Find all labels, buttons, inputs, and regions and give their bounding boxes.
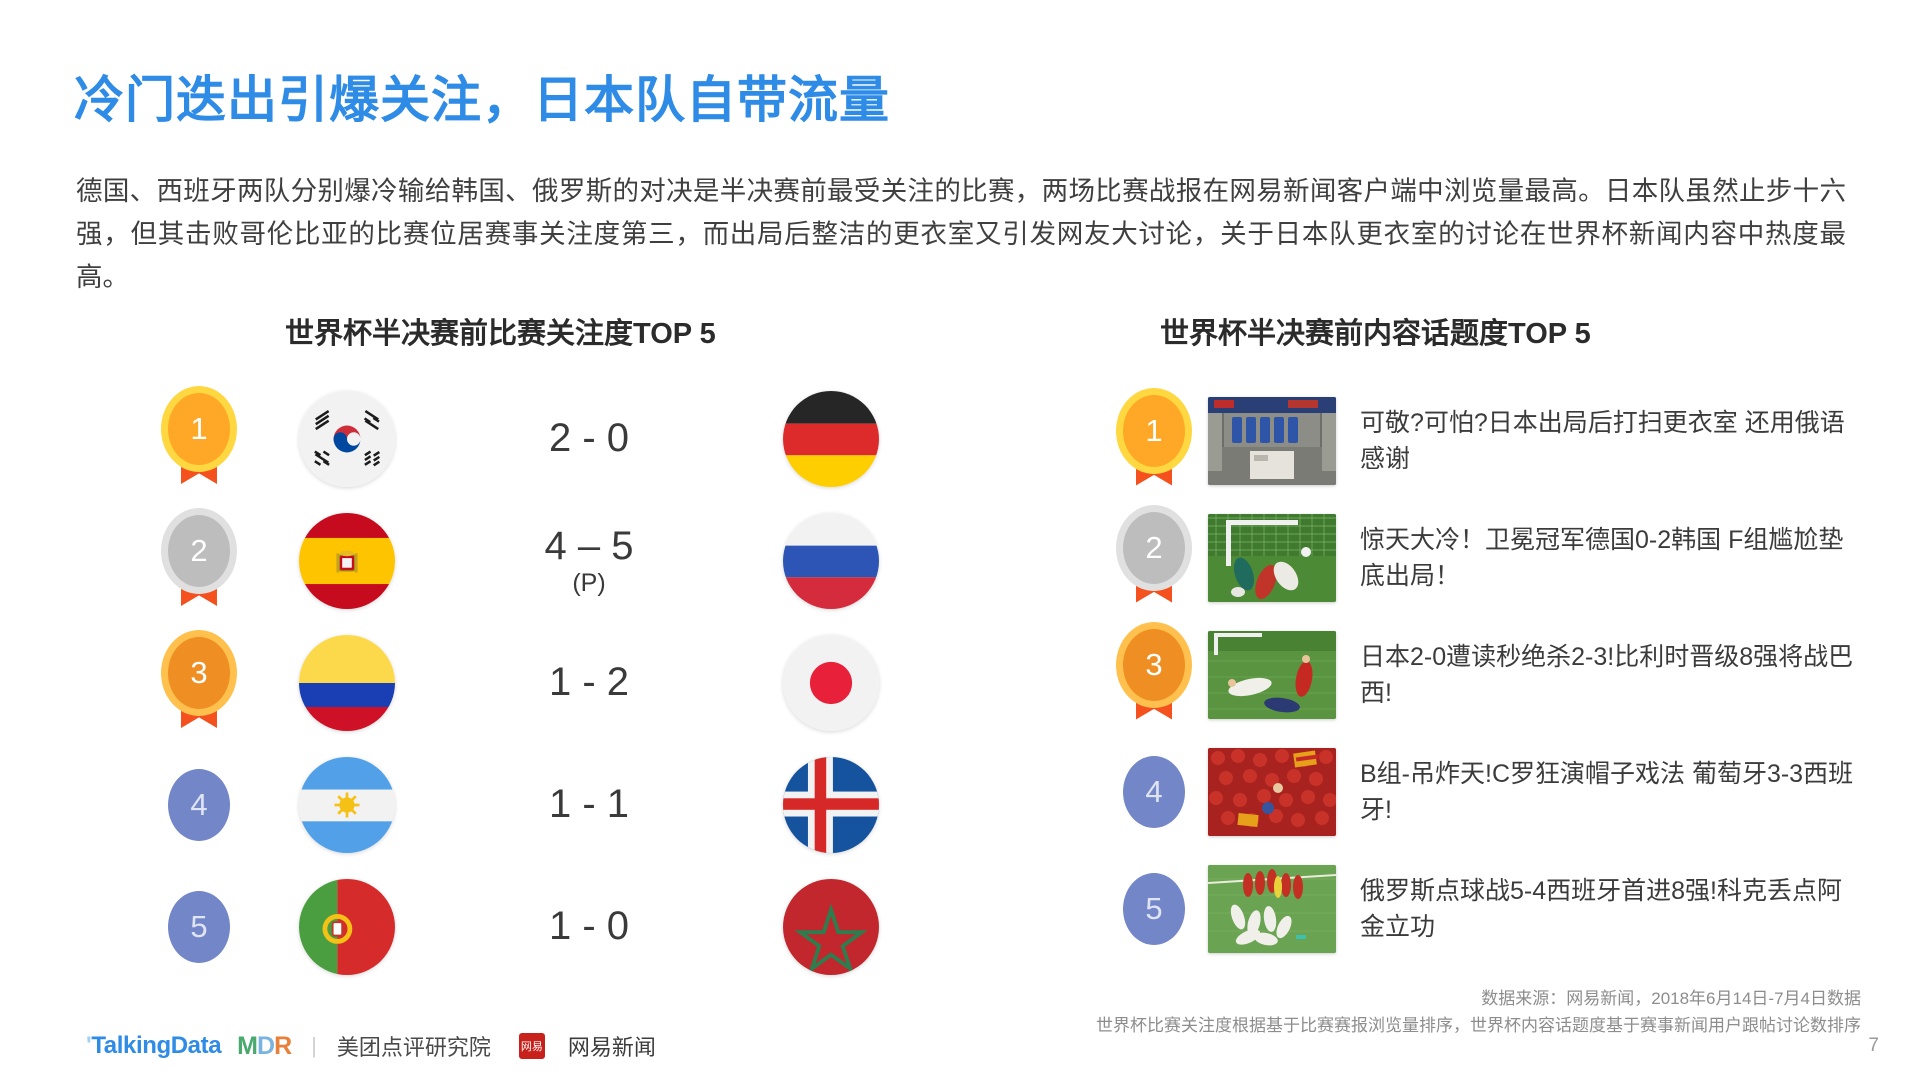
section-heading-matches: 世界杯半决赛前比赛关注度TOP 5 — [285, 310, 716, 352]
rank-cell: 4 — [1100, 756, 1208, 828]
thumbnail-players-on-pitch[interactable] — [1208, 631, 1336, 719]
mdr-logo-r: R — [274, 1032, 291, 1060]
score-cell: 4 – 5 (P) — [436, 525, 742, 597]
thumbnail-celebration[interactable] — [1208, 865, 1336, 953]
flag-cell-right — [742, 635, 920, 731]
mdr-logo-m: M — [237, 1032, 257, 1060]
score-value: 2 - 0 — [549, 416, 629, 460]
rank-badge: 4 — [1123, 756, 1185, 828]
list-item: 2 惊天大冷！卫冕冠军德国0-2韩国 F组尴尬垫底出局！ — [1100, 499, 1900, 616]
list-item: 3 日本2-0遭读秒绝杀2-3!比利时晋级8强将战巴西! — [1100, 616, 1900, 733]
rank-cell: 1 — [1100, 395, 1208, 487]
score-value: 1 - 2 — [549, 660, 629, 704]
table-row: 3 1 - 2 — [140, 622, 920, 744]
page-title: 冷门迭出引爆关注，日本队自带流量 — [74, 60, 890, 132]
footnote-method: 世界杯比赛关注度根据基于比赛赛报浏览量排序，世界杯内容话题度基于赛事新闻用户跟帖… — [1096, 1012, 1861, 1039]
score-cell: 2 - 0 — [436, 417, 742, 460]
list-item: 4 — [1100, 733, 1900, 850]
news-title[interactable]: 惊天大冷！卫冕冠军德国0-2韩国 F组尴尬垫底出局！ — [1360, 522, 1860, 594]
flag-cell-left — [258, 513, 436, 609]
rank-number: 1 — [168, 393, 230, 465]
netease-news-logo: 网易新闻 — [568, 1030, 656, 1062]
thumbnail-goal-mouth[interactable] — [1208, 514, 1336, 602]
list-item: 5 — [1100, 850, 1900, 967]
flag-cell-right — [742, 391, 920, 487]
page-number: 7 — [1868, 1035, 1879, 1057]
mdr-logo: MDR — [237, 1032, 291, 1061]
flag-cell-left — [258, 635, 436, 731]
score-value: 1 - 1 — [549, 782, 629, 826]
news-title[interactable]: 俄罗斯点球战5-4西班牙首进8强!科克丢点阿金立功 — [1360, 873, 1860, 945]
flag-germany-icon — [783, 391, 879, 487]
score-cell: 1 - 2 — [436, 661, 742, 704]
footnote-source: 数据来源：网易新闻，2018年6月14日-7月4日数据 — [1096, 985, 1861, 1012]
flag-portugal-icon — [299, 879, 395, 975]
score-cell: 1 - 0 — [436, 905, 742, 948]
news-title[interactable]: B组-吊炸天!C罗狂演帽子戏法 葡萄牙3-3西班牙! — [1360, 756, 1860, 828]
table-row: 4 — [140, 744, 920, 866]
news-title[interactable]: 日本2-0遭读秒绝杀2-3!比利时晋级8强将战巴西! — [1360, 639, 1860, 711]
rank-cell: 2 — [140, 515, 258, 607]
rank-cell: 5 — [1100, 873, 1208, 945]
rank-cell: 1 — [140, 393, 258, 485]
rank-number: 1 — [1123, 395, 1185, 467]
rank-cell: 2 — [1100, 512, 1208, 604]
rank-badge: 5 — [1123, 873, 1185, 945]
flag-south-korea-icon — [299, 391, 395, 487]
medal-gold-icon: 1 — [168, 393, 230, 485]
news-topic-list: 1 — [1100, 382, 1900, 967]
flag-iceland-icon — [783, 757, 879, 853]
flag-cell-left — [258, 879, 436, 975]
flag-cell-left — [258, 757, 436, 853]
flag-spain-icon — [299, 513, 395, 609]
flag-cell-right — [742, 513, 920, 609]
intro-paragraph: 德国、西班牙两队分别爆冷输给韩国、俄罗斯的对决是半决赛前最受关注的比赛，两场比赛… — [76, 170, 1846, 299]
news-title[interactable]: 可敬?可怕?日本出局后打扫更衣室 还用俄语感谢 — [1360, 405, 1860, 477]
rank-cell: 4 — [140, 769, 258, 841]
medal-bronze-icon: 3 — [1123, 629, 1185, 721]
score-cell: 1 - 1 — [436, 783, 742, 826]
medal-silver-icon: 2 — [168, 515, 230, 607]
rank-number: 3 — [168, 637, 230, 709]
flag-argentina-icon — [299, 757, 395, 853]
rank-cell: 3 — [140, 637, 258, 729]
flag-japan-icon — [783, 635, 879, 731]
talkingdata-logo: 'TalkingData — [86, 1032, 221, 1060]
footnote: 数据来源：网易新闻，2018年6月14日-7月4日数据 世界杯比赛关注度根据基于… — [1096, 985, 1861, 1039]
rank-badge: 4 — [168, 769, 230, 841]
list-item: 1 — [1100, 382, 1900, 499]
medal-gold-icon: 1 — [1123, 395, 1185, 487]
mdr-logo-d: D — [257, 1032, 274, 1060]
match-attention-list: 1 — [140, 378, 920, 988]
thumbnail-locker-room[interactable] — [1208, 397, 1336, 485]
rank-number: 2 — [1123, 512, 1185, 584]
rank-cell: 3 — [1100, 629, 1208, 721]
rank-number: 2 — [168, 515, 230, 587]
talkingdata-logo-text: TalkingData — [91, 1032, 221, 1059]
table-row: 1 — [140, 378, 920, 500]
table-row: 2 4 – — [140, 500, 920, 622]
flag-cell-right — [742, 879, 920, 975]
section-heading-topics: 世界杯半决赛前内容话题度TOP 5 — [1160, 310, 1591, 352]
table-row: 5 1 - 0 — [140, 866, 920, 988]
penalty-note: (P) — [436, 570, 742, 597]
rank-number: 3 — [1123, 629, 1185, 701]
flag-cell-right — [742, 757, 920, 853]
rank-badge: 5 — [168, 891, 230, 963]
score-value: 4 – 5 — [545, 524, 634, 568]
rank-cell: 5 — [140, 891, 258, 963]
medal-silver-icon: 2 — [1123, 512, 1185, 604]
netease-mark-icon: 网易 — [519, 1033, 545, 1059]
flag-cell-left — [258, 391, 436, 487]
footer-logos: 'TalkingData MDR | 美团点评研究院 网易 网易新闻 — [86, 1030, 656, 1062]
flag-colombia-icon — [299, 635, 395, 731]
score-value: 1 - 0 — [549, 904, 629, 948]
flag-morocco-icon — [783, 879, 879, 975]
meituan-research-logo: 美团点评研究院 — [337, 1030, 491, 1062]
flag-russia-icon — [783, 513, 879, 609]
medal-bronze-icon: 3 — [168, 637, 230, 729]
thumbnail-red-crowd[interactable] — [1208, 748, 1336, 836]
logo-separator: | — [311, 1033, 317, 1059]
